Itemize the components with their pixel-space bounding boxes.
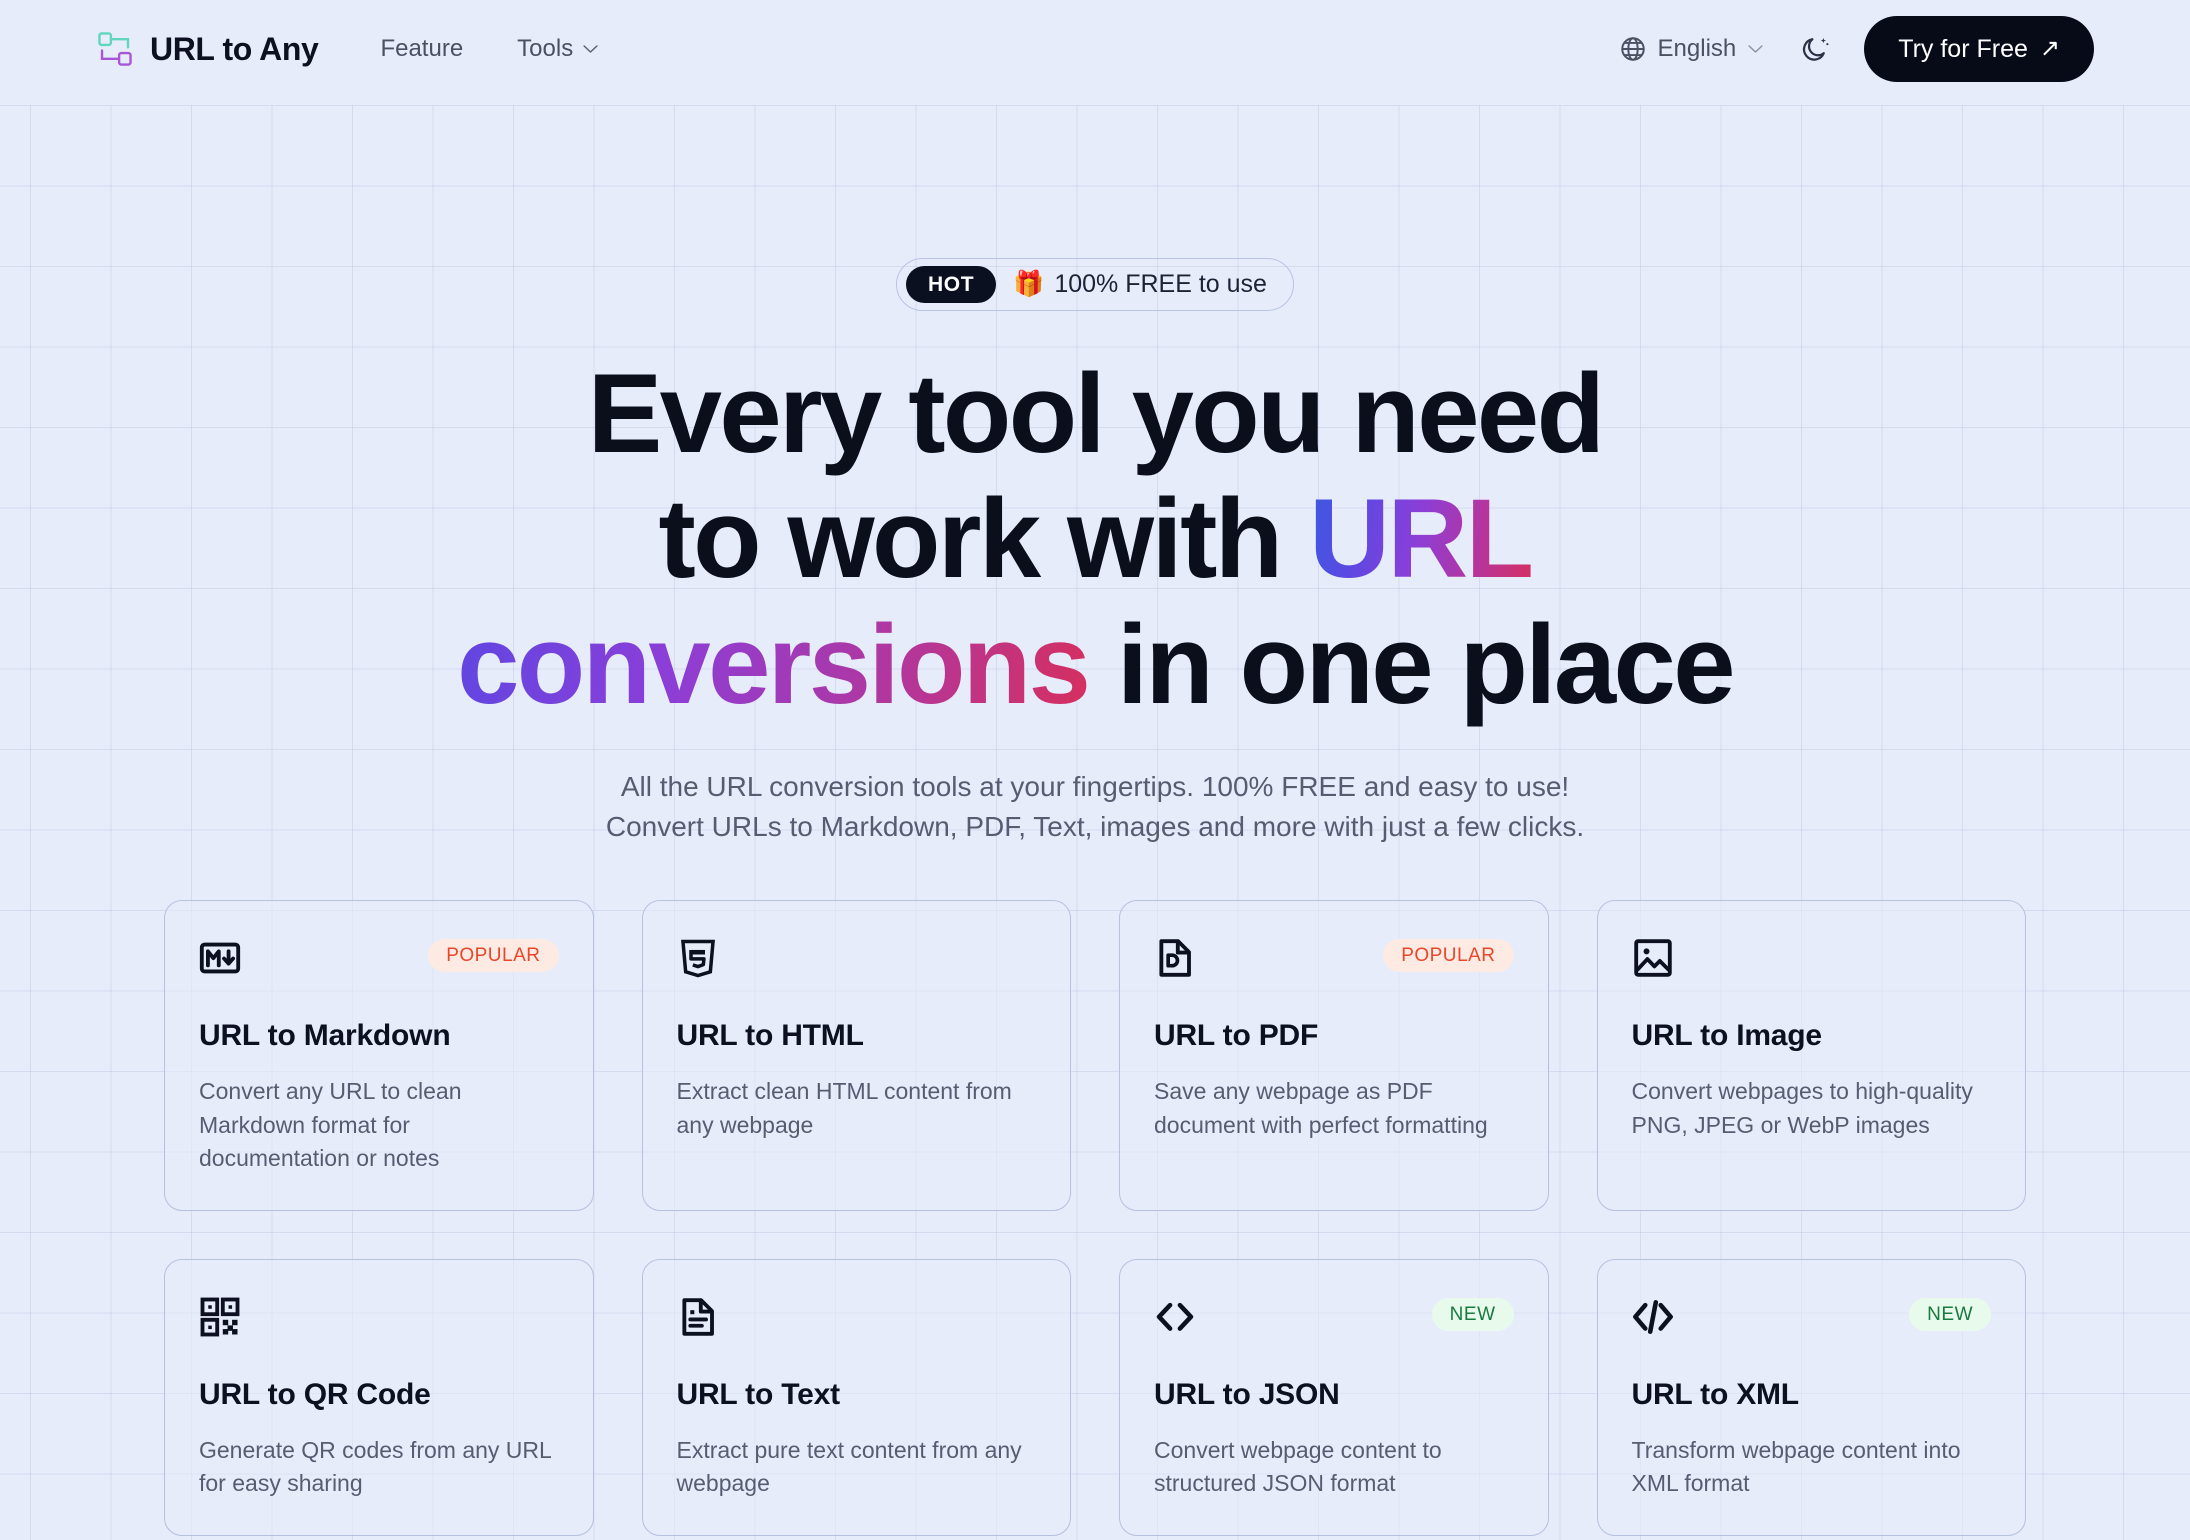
tool-card-url-to-image[interactable]: URL to Image Convert webpages to high-qu… — [1597, 900, 2027, 1211]
card-header: POPULAR — [1154, 937, 1514, 983]
code-slash-icon — [1632, 1296, 1674, 1338]
card-description: Extract clean HTML content from any webp… — [677, 1075, 1037, 1142]
hero-subtitle-line-1: All the URL conversion tools at your fin… — [0, 767, 2190, 807]
nav-item-feature-label: Feature — [380, 35, 463, 63]
status-badge: NEW — [1909, 1298, 1991, 1331]
card-header — [1632, 937, 1992, 983]
brand-logo-link[interactable]: URL to Any — [96, 30, 318, 68]
card-header: NEW — [1632, 1296, 1992, 1342]
tool-card-url-to-qr-code[interactable]: URL to QR Code Generate QR codes from an… — [164, 1259, 594, 1536]
card-title: URL to JSON — [1154, 1378, 1514, 1412]
headline-accent-conversions: conversions — [457, 602, 1088, 727]
tool-card-url-to-pdf[interactable]: POPULAR URL to PDF Save any webpage as P… — [1119, 900, 1549, 1211]
card-header — [677, 937, 1037, 983]
cta-label: Try for Free — [1898, 35, 2028, 64]
tool-card-url-to-xml[interactable]: NEW URL to XML Transform webpage content… — [1597, 1259, 2027, 1536]
hero-subtitle: All the URL conversion tools at your fin… — [0, 767, 2190, 847]
card-description: Convert webpage content to structured JS… — [1154, 1434, 1514, 1501]
card-title: URL to XML — [1632, 1378, 1992, 1412]
qr-code-icon — [199, 1296, 241, 1338]
card-description: Extract pure text content from any webpa… — [677, 1434, 1037, 1501]
header-actions: English Try for Free ↗ — [1619, 16, 2094, 82]
globe-icon — [1619, 35, 1647, 63]
status-badge: POPULAR — [428, 939, 558, 972]
text-document-icon — [677, 1296, 719, 1338]
card-header — [677, 1296, 1037, 1342]
hot-free-badge[interactable]: HOT 🎁 100% FREE to use — [896, 258, 1294, 311]
card-title: URL to HTML — [677, 1019, 1037, 1053]
hero-subtitle-line-2: Convert URLs to Markdown, PDF, Text, ima… — [0, 807, 2190, 847]
card-header: POPULAR — [199, 937, 559, 983]
html5-icon — [677, 937, 719, 979]
nav-item-tools-label: Tools — [517, 35, 573, 63]
headline-line-2-plain: to work with — [658, 476, 1309, 601]
tool-card-url-to-json[interactable]: NEW URL to JSON Convert webpage content … — [1119, 1259, 1549, 1536]
card-title: URL to Text — [677, 1378, 1037, 1412]
badge-label: 100% FREE to use — [1054, 270, 1267, 299]
card-title: URL to PDF — [1154, 1019, 1514, 1053]
gift-emoji-icon: 🎁 — [1013, 272, 1044, 297]
card-description: Generate QR codes from any URL for easy … — [199, 1434, 559, 1501]
image-icon — [1632, 937, 1674, 979]
try-for-free-button[interactable]: Try for Free ↗ — [1864, 16, 2094, 82]
card-description: Convert webpages to high-quality PNG, JP… — [1632, 1075, 1992, 1142]
card-title: URL to Image — [1632, 1019, 1992, 1053]
card-title: URL to Markdown — [199, 1019, 559, 1053]
theme-toggle-button[interactable] — [1790, 23, 1842, 75]
headline-line-1: Every tool you need — [588, 351, 1603, 476]
tool-card-url-to-markdown[interactable]: POPULAR URL to Markdown Convert any URL … — [164, 900, 594, 1211]
chevron-down-icon — [582, 44, 599, 54]
chevron-down-icon — [1747, 44, 1764, 54]
tool-cards-grid: POPULAR URL to Markdown Convert any URL … — [164, 900, 2026, 1536]
language-selector[interactable]: English — [1619, 35, 1791, 63]
moon-sparkle-icon — [1801, 34, 1831, 64]
main-nav: Feature Tools — [380, 35, 599, 63]
card-title: URL to QR Code — [199, 1378, 559, 1412]
nodes-link-icon — [96, 30, 134, 68]
headline-line-3-plain: in one place — [1088, 602, 1733, 727]
nav-item-feature[interactable]: Feature — [380, 35, 463, 63]
arrow-up-right-icon: ↗ — [2040, 37, 2060, 61]
badge-text: 🎁 100% FREE to use — [1013, 270, 1267, 299]
card-description: Transform webpage content into XML forma… — [1632, 1434, 1992, 1501]
card-description: Convert any URL to clean Markdown format… — [199, 1075, 559, 1176]
card-description: Save any webpage as PDF document with pe… — [1154, 1075, 1514, 1142]
pdf-document-icon — [1154, 937, 1196, 979]
page-title: Every tool you need to work with URL con… — [0, 351, 2190, 727]
status-badge: POPULAR — [1383, 939, 1513, 972]
language-label: English — [1658, 35, 1737, 63]
card-header: NEW — [1154, 1296, 1514, 1342]
nav-item-tools[interactable]: Tools — [517, 35, 599, 63]
hero-section: HOT 🎁 100% FREE to use Every tool you ne… — [0, 98, 2190, 847]
tool-card-url-to-text[interactable]: URL to Text Extract pure text content fr… — [642, 1259, 1072, 1536]
tool-card-url-to-html[interactable]: URL to HTML Extract clean HTML content f… — [642, 900, 1072, 1211]
card-header — [199, 1296, 559, 1342]
headline-accent-url: URL — [1309, 476, 1531, 601]
angle-brackets-icon — [1154, 1296, 1196, 1338]
badge-hot-chip: HOT — [906, 266, 996, 303]
brand-name: URL to Any — [150, 31, 318, 68]
status-badge: NEW — [1432, 1298, 1514, 1331]
markdown-icon — [199, 937, 241, 979]
site-header: URL to Any Feature Tools — [0, 0, 2190, 98]
